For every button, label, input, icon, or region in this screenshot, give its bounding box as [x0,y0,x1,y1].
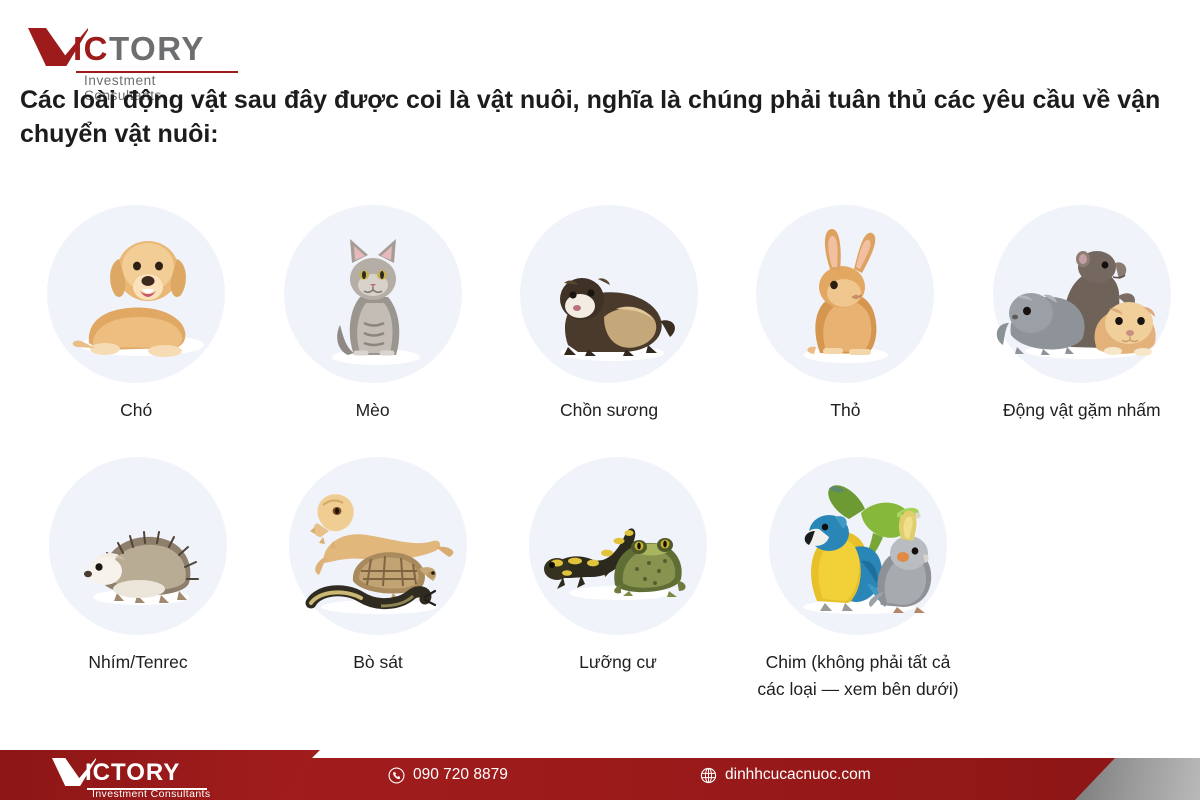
animal-cell-rabbit: Thỏ [727,205,963,424]
brand-wordmark: ICTORY [73,30,205,68]
dog-photo-icon [47,205,225,383]
cat-disc [284,205,462,383]
animal-label: Chồn sương [502,397,717,424]
footer-phone[interactable]: 090 720 8879 [388,750,508,800]
animal-label: Chim (không phải tất cả các loại — xem b… [751,649,966,703]
animal-cell-dog: Chó [18,205,254,424]
animal-row-2: Nhím/Tenrec [0,457,1200,703]
page-title: Các loài động vật sau đây được coi là vậ… [20,84,1170,152]
cat-photo-icon [284,205,462,383]
animal-label: Động vật gặm nhấm [974,397,1189,424]
footer-wordmark: ICTORY [85,759,180,787]
animal-label: Mèo [265,397,480,424]
hedgehog-photo-icon [49,457,227,635]
animal-cell-rodents: Động vật gặm nhấm [964,205,1200,424]
animal-row-1: Chó [0,205,1200,424]
animal-cell-birds: Chim (không phải tất cả các loại — xem b… [738,457,978,703]
footer-website-url: dinhhcucacnuoc.com [725,766,871,784]
ferret-photo-icon [520,205,698,383]
animal-cell-hedgehog: Nhím/Tenrec [18,457,258,676]
dog-disc [47,205,225,383]
animal-cell-cat: Mèo [254,205,490,424]
animal-cell-amphibians: Lưỡng cư [498,457,738,676]
brand-wordmark-red: IC [73,30,109,67]
footer-phone-number: 090 720 8879 [413,766,508,784]
animal-label: Thỏ [738,397,953,424]
brand-wordmark-gray: TORY [109,30,205,67]
slide-page: ICTORY Investment Consultants Các loài đ… [0,0,1200,800]
amphibians-disc [529,457,707,635]
phone-icon [388,767,405,784]
reptiles-disc [289,457,467,635]
animal-cell-ferret: Chồn sương [491,205,727,424]
birds-disc [769,457,947,635]
footer-bar: ICTORY Investment Consultants 090 720 88… [0,750,1200,800]
animal-label: Bò sát [271,649,486,676]
animal-label: Chó [29,397,244,424]
animal-label: Nhím/Tenrec [31,649,246,676]
animal-grid: Chó [0,205,1200,703]
animal-label: Lưỡng cư [511,649,726,676]
hedgehog-disc [49,457,227,635]
rodents-photo-icon [993,205,1171,383]
footer-website[interactable]: dinhhcucacnuoc.com [700,750,871,800]
animal-cell-reptiles: Bò sát [258,457,498,676]
amphibians-photo-icon [529,457,707,635]
footer-wordmark-part1: IC [85,759,111,786]
birds-photo-icon [769,457,947,635]
rabbit-disc [756,205,934,383]
footer-logo: ICTORY Investment Consultants [52,755,232,799]
reptiles-photo-icon [289,457,467,635]
rabbit-photo-icon [756,205,934,383]
footer-wordmark-part2: TORY [111,759,180,786]
rodents-disc [993,205,1171,383]
globe-icon [700,767,717,784]
ferret-disc [520,205,698,383]
brand-logo: ICTORY Investment Consultants [28,26,238,88]
footer-tagline: Investment Consultants [92,788,211,800]
